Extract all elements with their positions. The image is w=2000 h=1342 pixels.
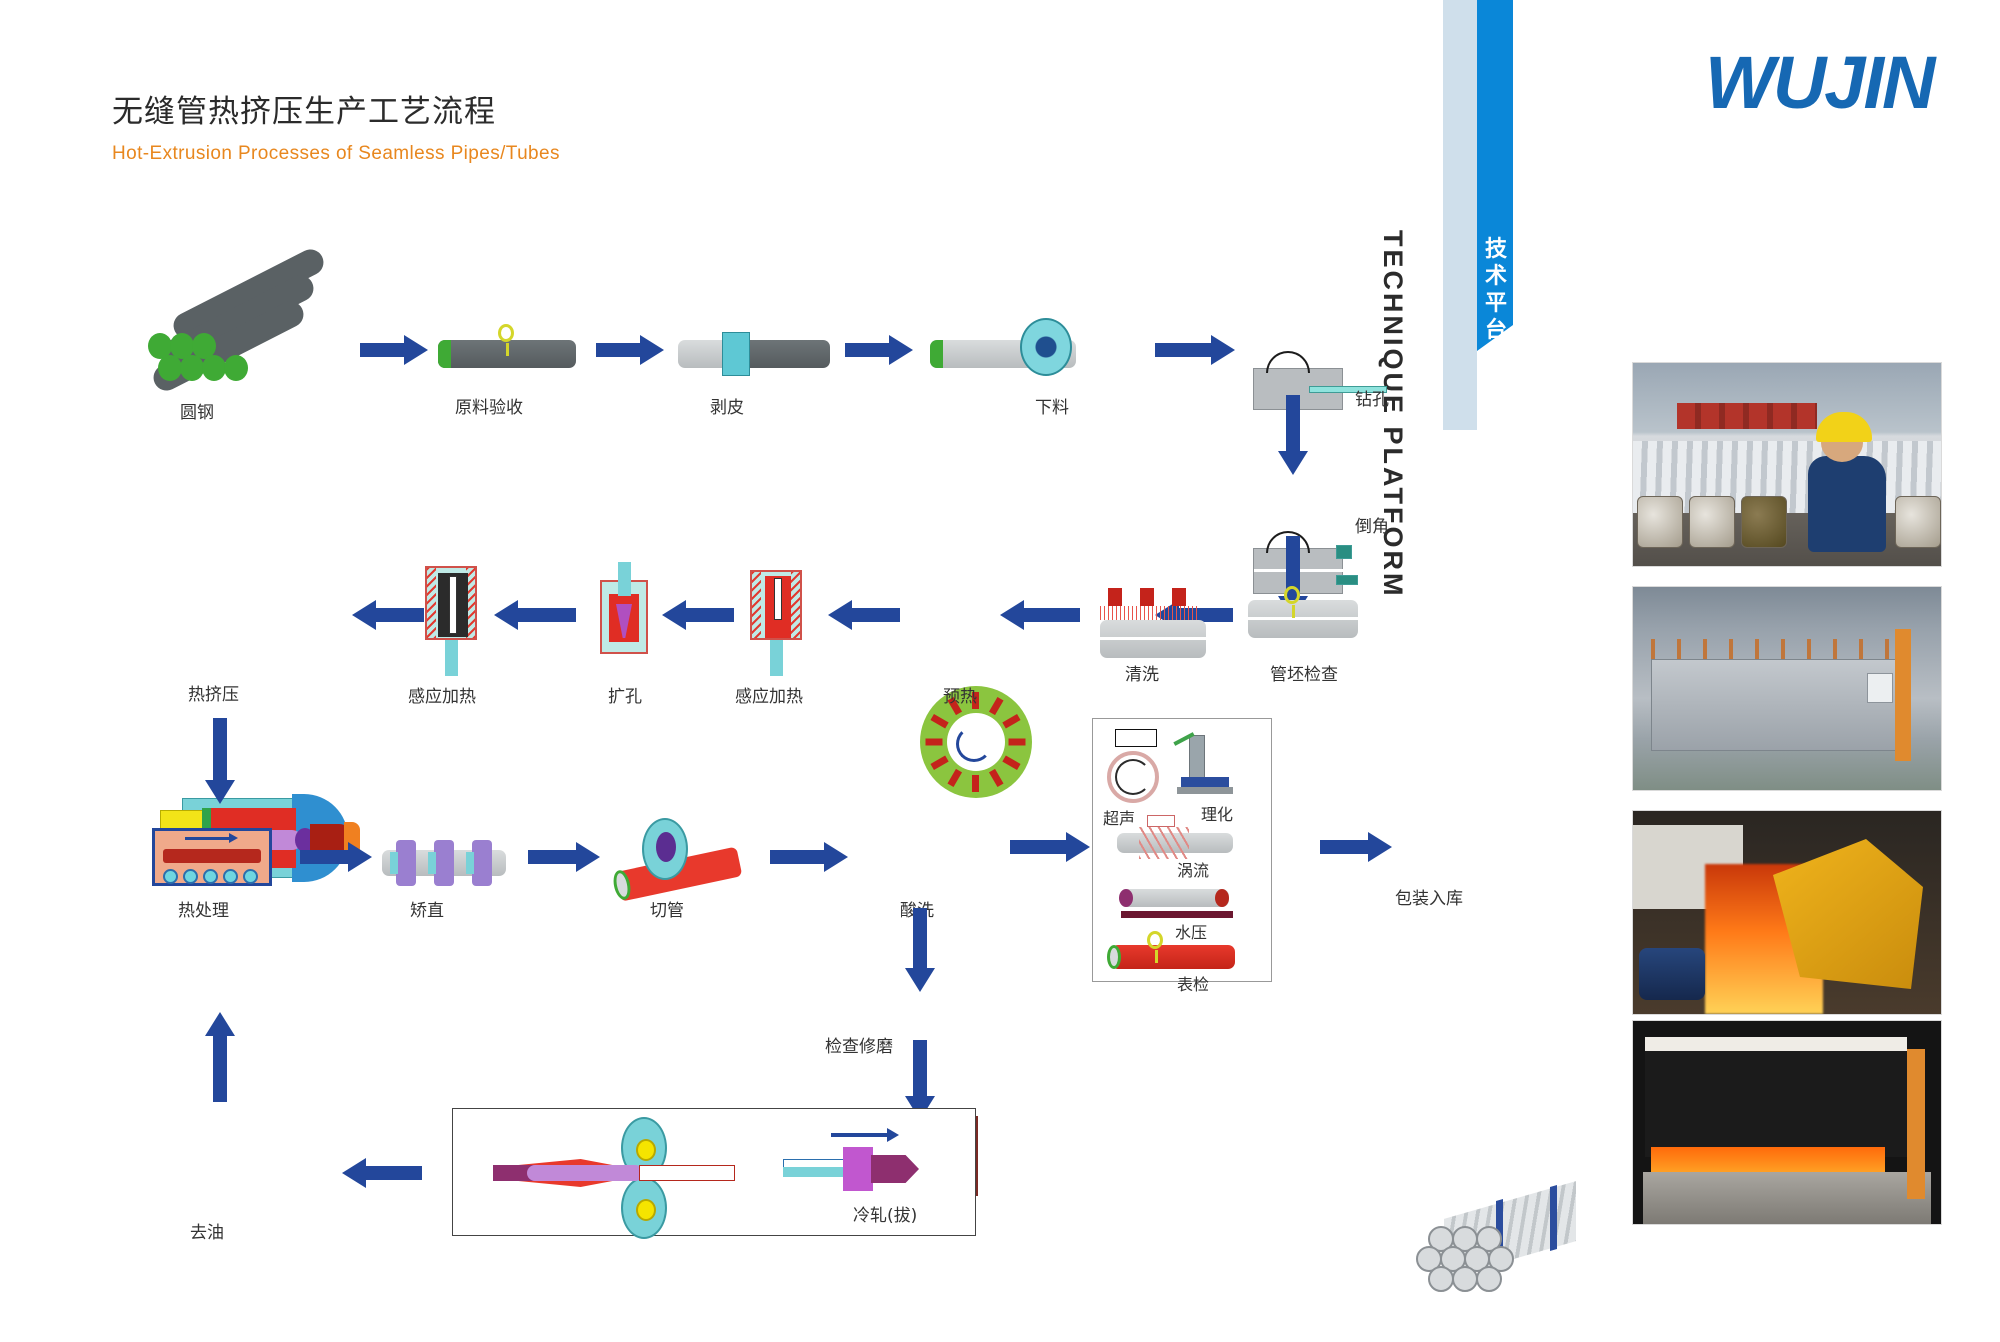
node-heat-treatment	[152, 828, 272, 886]
node-cold-rolling: 冷轧(拔)	[452, 1108, 976, 1236]
photo-bar-inspection	[1632, 362, 1942, 567]
label-packaging: 包装入库	[1395, 884, 1463, 909]
label-heat-treatment: 热处理	[178, 896, 229, 921]
photo-hot-billet	[1632, 810, 1942, 1015]
photo-furnace-interior	[1632, 1020, 1942, 1225]
label-hole-expansion: 扩孔	[608, 682, 642, 707]
banner-light-stripe	[1443, 0, 1477, 430]
page-title-zh: 无缝管热挤压生产工艺流程	[112, 86, 496, 131]
node-material-acceptance	[438, 340, 576, 368]
label-ultrasonic: 超声	[1103, 805, 1135, 829]
label-cutting: 下料	[1035, 393, 1069, 418]
label-material-acceptance: 原料验收	[455, 393, 523, 418]
page-title-en: Hot-Extrusion Processes of Seamless Pipe…	[112, 143, 560, 165]
label-surface-test: 表检	[1177, 971, 1209, 995]
label-blank-inspection: 管坯检查	[1270, 660, 1338, 685]
label-straightening: 矫直	[410, 896, 444, 921]
label-drilling: 钻孔	[1355, 385, 1389, 410]
node-packaging	[1404, 1228, 1584, 1292]
label-induction-heating-1: 感应加热	[735, 682, 803, 707]
banner-label-en: TECHNIQUE PLATFORM	[1377, 230, 1408, 598]
label-induction-heating-2: 感应加热	[408, 682, 476, 707]
label-hydro-test: 水压	[1175, 919, 1207, 943]
label-degreasing: 去油	[190, 1218, 224, 1243]
label-physchem: 理化	[1201, 801, 1233, 825]
wujin-logo: WUJIN	[1705, 46, 1933, 120]
label-eddy-current: 涡流	[1177, 857, 1209, 881]
label-chamfering: 倒角	[1355, 512, 1389, 537]
label-round-steel: 圆钢	[180, 398, 214, 423]
label-cleaning: 清洗	[1125, 660, 1159, 685]
testing-box: 超声 理化 涡流 水压 表检	[1092, 718, 1272, 982]
photo-heat-furnace-line	[1632, 586, 1942, 791]
banner-label-zh: 技术平台	[1481, 236, 1511, 344]
label-peeling: 剥皮	[710, 393, 744, 418]
label-tube-cutting: 切管	[650, 896, 684, 921]
label-inspection-grinding: 检查修磨	[825, 1032, 893, 1057]
node-induction-heating-1	[750, 570, 802, 640]
node-induction-heating-2	[425, 566, 477, 640]
label-hot-extrusion: 热挤压	[188, 680, 239, 705]
label-preheating: 预热	[943, 682, 977, 707]
technique-platform-banner: 技术平台	[1443, 0, 1513, 430]
label-cold-rolling: 冷轧(拔)	[853, 1201, 917, 1226]
node-round-steel	[150, 285, 350, 390]
